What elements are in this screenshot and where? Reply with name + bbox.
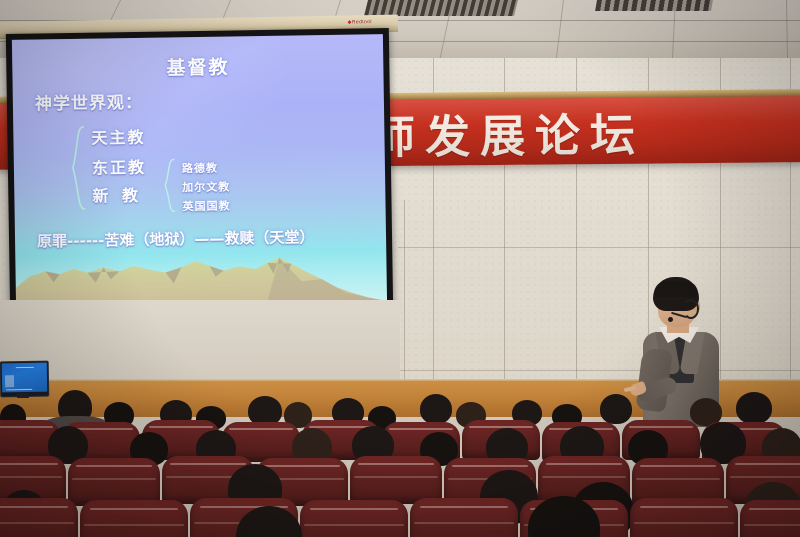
slide-footer-line: 原罪------苦难（地狱）——救赎（天堂） [37, 230, 315, 249]
audience-seating [0, 386, 800, 537]
brace-sub [162, 157, 177, 213]
ceiling-vent-secondary [595, 0, 713, 11]
audience-head [736, 392, 772, 424]
audience-head [420, 394, 452, 424]
lower-left-wall [0, 300, 400, 382]
slide-branch-1: 天主教 [91, 130, 145, 147]
brace-main [68, 125, 87, 211]
slide-surface: 基督教 神学世界观： 天主教 东正教 新 教 路德教 加尔文教 英国国教 原罪-… [12, 34, 387, 310]
slide-subtitle: 神学世界观： [35, 95, 143, 114]
audience-head [600, 394, 632, 424]
slide-subbranch-3: 英国国教 [182, 201, 230, 213]
lecture-hall-photo: 2 师发展论坛 ◆Redtool [0, 0, 800, 537]
slide-branch-3: 新 教 [92, 188, 142, 205]
slide-subbranch-1: 路德教 [182, 163, 218, 175]
ceiling-vent [364, 0, 518, 16]
housing-brand-label: ◆Redtool [348, 19, 372, 25]
projection-screen: 基督教 神学世界观： 天主教 东正教 新 教 路德教 加尔文教 英国国教 原罪-… [6, 28, 393, 316]
slide-branch-2: 东正教 [92, 160, 146, 177]
slide-subbranch-2: 加尔文教 [182, 182, 230, 194]
